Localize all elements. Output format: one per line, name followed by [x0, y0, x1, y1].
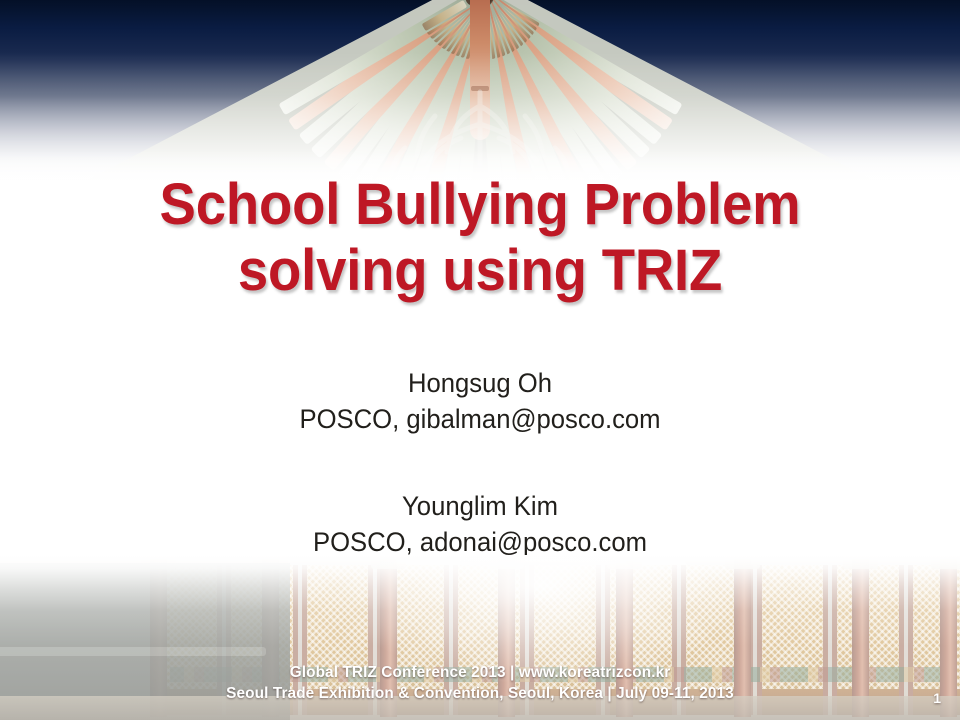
title-line-1: School Bullying Problem: [29, 172, 931, 238]
page-number: 1: [933, 690, 941, 706]
author-block: Hongsug Oh POSCO, gibalman@posco.com You…: [0, 366, 960, 561]
footer-line-1: Global TRIZ Conference 2013 | www.koreat…: [19, 662, 941, 683]
title-line-2: solving using TRIZ: [29, 238, 931, 304]
author-name: Hongsug Oh: [24, 366, 936, 402]
palace-roof-graphic: [80, 0, 880, 184]
title-slide: School Bullying Problem solving using TR…: [0, 0, 960, 720]
author-name: Younglim Kim: [24, 489, 936, 525]
page-title: School Bullying Problem solving using TR…: [0, 172, 960, 304]
gongpo-bracket-carving: [365, 86, 595, 181]
author-entry: Hongsug Oh POSCO, gibalman@posco.com: [0, 366, 960, 438]
slide-footer: Global TRIZ Conference 2013 | www.koreat…: [0, 662, 960, 704]
author-affiliation: POSCO, gibalman@posco.com: [24, 402, 936, 438]
author-entry: Younglim Kim POSCO, adonai@posco.com: [0, 489, 960, 561]
footer-line-2: Seoul Trade Exhibition & Convention, Seo…: [19, 683, 941, 704]
courtyard-rail: [0, 647, 266, 656]
top-banner-image: [0, 0, 960, 200]
